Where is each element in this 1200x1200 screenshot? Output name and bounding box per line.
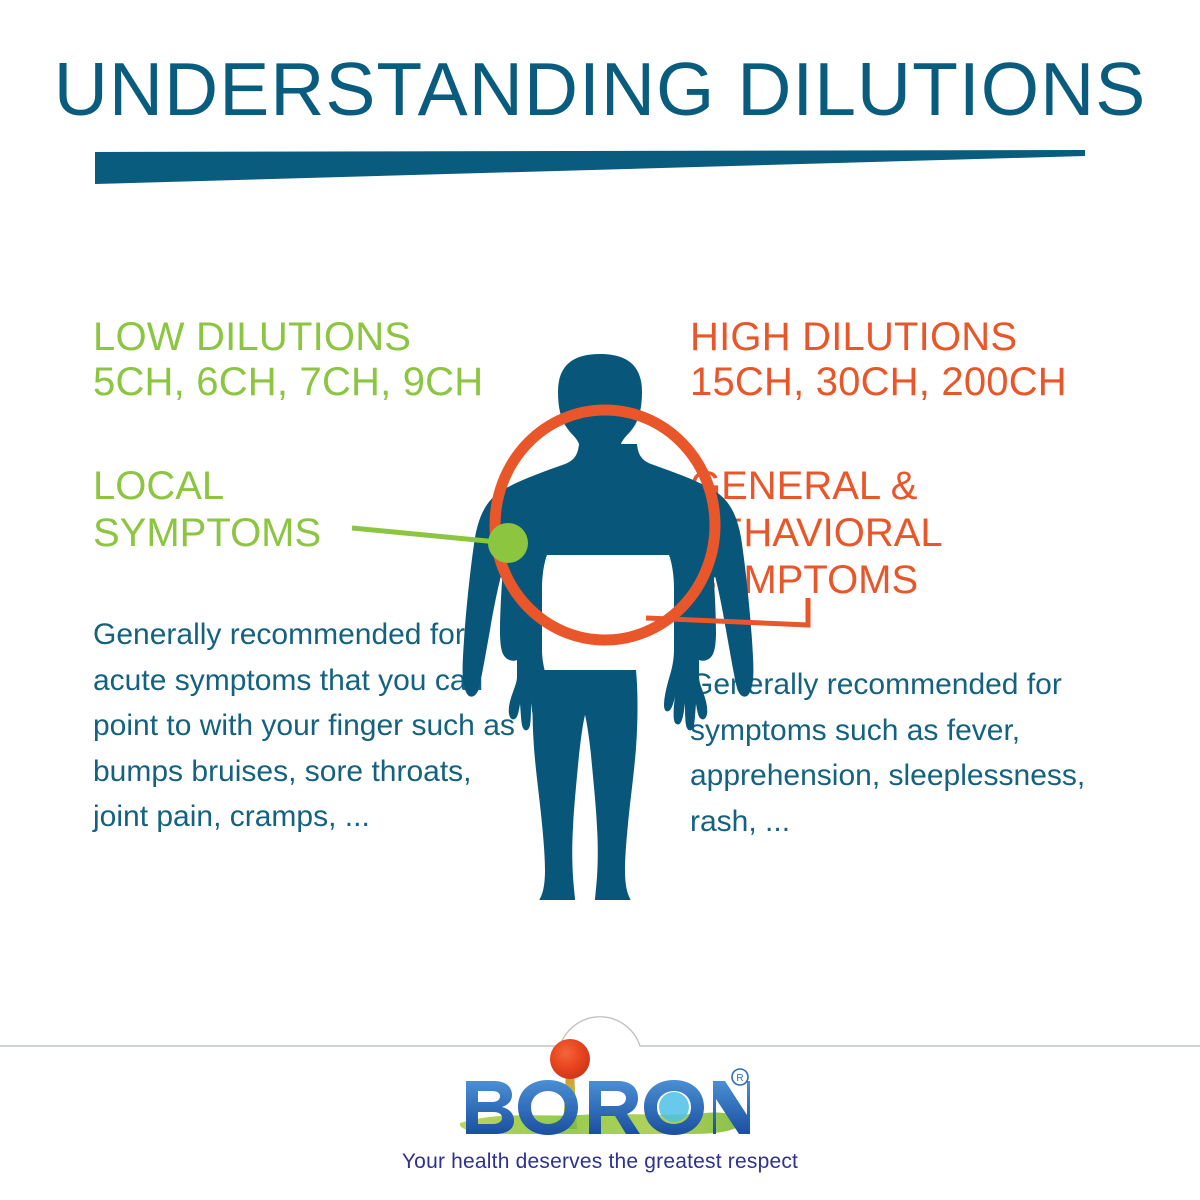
- brand-tagline: Your health deserves the greatest respec…: [0, 1150, 1200, 1174]
- logo-cyan-dot: [659, 1092, 689, 1122]
- green-dot-marker: [488, 523, 528, 563]
- page-title: UNDERSTANDING DILUTIONS: [0, 52, 1200, 127]
- infographic-page: UNDERSTANDING DILUTIONS LOW DILUTIONS 5C…: [0, 0, 1200, 1200]
- registered-trademark-icon: R: [732, 1069, 748, 1085]
- body-illustration: [330, 340, 870, 900]
- flower-bloom: [550, 1039, 590, 1079]
- footer: R Your health deserves the greatest resp…: [0, 1015, 1200, 1200]
- boiron-logo: R: [0, 1037, 1200, 1152]
- boiron-logo-mark: R: [450, 1037, 750, 1147]
- svg-text:R: R: [736, 1073, 743, 1084]
- human-body-silhouette: [463, 354, 754, 900]
- title-underline-wedge: [95, 150, 1085, 184]
